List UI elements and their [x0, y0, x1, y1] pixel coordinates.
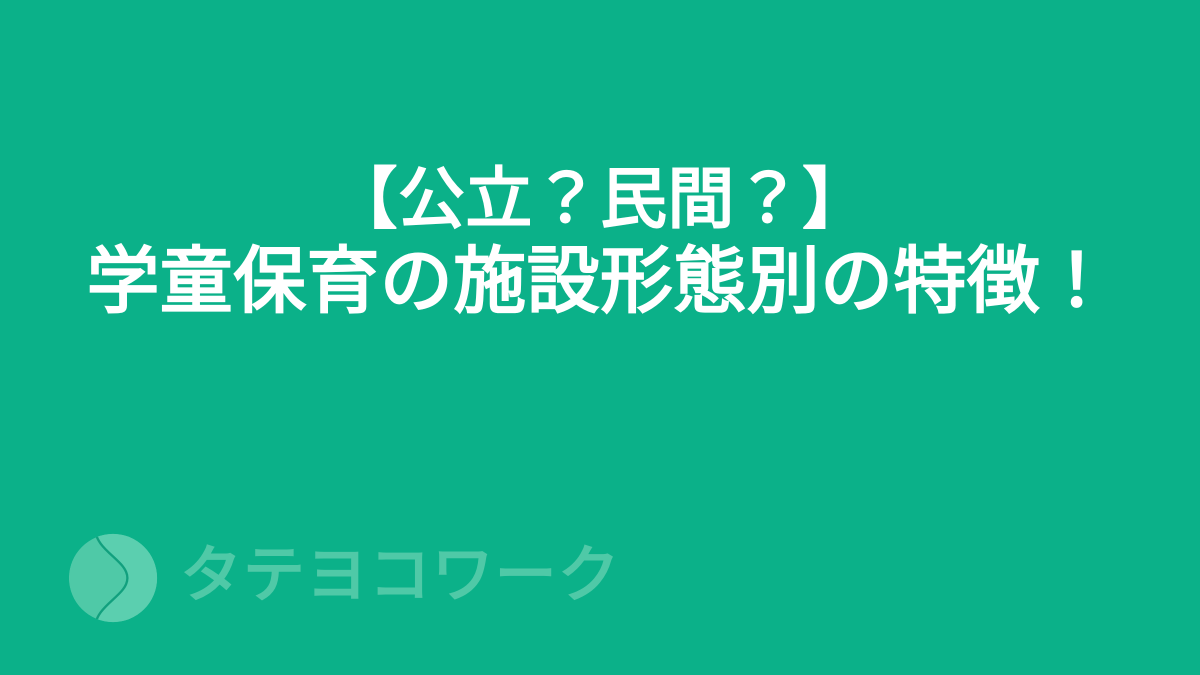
title-line-1: 【公立？民間？】	[331, 160, 870, 239]
site-logo[interactable]: タテヨコワーク	[68, 533, 621, 623]
logo-wordmark: タテヨコワーク	[180, 545, 621, 607]
title-block: 【公立？民間？】 学童保育の施設形態別の特徴！	[0, 0, 1200, 470]
logo-circle-mark-icon	[68, 533, 158, 623]
eyecatch-card: 【公立？民間？】 学童保育の施設形態別の特徴！ タテヨコワーク	[0, 0, 1200, 675]
title-line-2: 学童保育の施設形態別の特徴！	[86, 239, 1113, 325]
